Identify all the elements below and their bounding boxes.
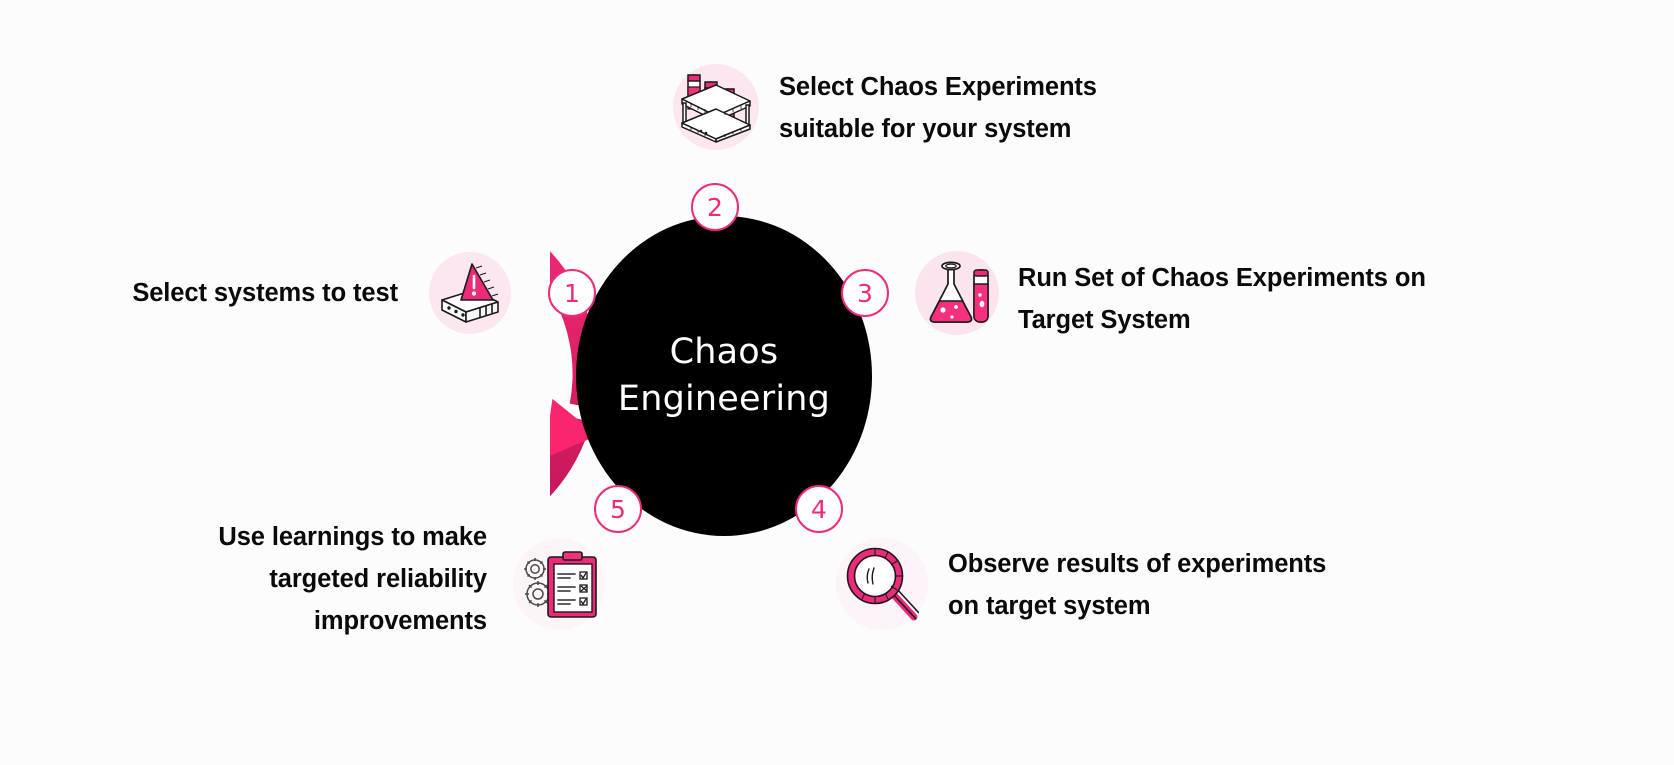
step-node-4[interactable]: 4 [795, 485, 843, 533]
test-tube-rack-icon [679, 71, 753, 143]
step-number-1: 1 [564, 279, 580, 308]
step-node-5[interactable]: 5 [594, 485, 642, 533]
clipboard-checklist-gears-icon [519, 549, 599, 619]
step-5-label-line2: targeted reliability [269, 565, 487, 593]
step-number-4: 4 [811, 495, 827, 524]
step-number-3: 3 [857, 279, 873, 308]
step-5-label-line3: improvements [314, 607, 487, 635]
center-title-line2: Engineering [618, 379, 830, 419]
step-4-label: Observe results of experiments on target… [948, 543, 1418, 627]
step-1-label: Select systems to test [40, 272, 398, 314]
step-number-5: 5 [610, 495, 626, 524]
server-rack-alert-icon [436, 262, 504, 324]
step-4-icon-bubble [836, 538, 928, 630]
step-5-icon-bubble [513, 538, 605, 630]
step-node-2[interactable]: 2 [691, 183, 739, 231]
step-4-label-line2: on target system [948, 592, 1150, 620]
step-2-label: Select Chaos Experiments suitable for yo… [779, 66, 1199, 150]
step-1-label-line1: Select systems to test [132, 279, 398, 307]
chaos-engineering-diagram: Chaos Engineering 1 2 3 4 5 [0, 0, 1674, 765]
step-3-label: Run Set of Chaos Experiments on Target S… [1018, 257, 1488, 341]
magnifying-glass-icon [845, 547, 919, 621]
step-2-icon-bubble [673, 64, 759, 150]
step-node-1[interactable]: 1 [548, 269, 596, 317]
step-5-label: Use learnings to make targeted reliabili… [130, 516, 487, 642]
step-3-label-line2: Target System [1018, 306, 1191, 334]
flask-and-test-tube-icon [922, 260, 992, 326]
center-title: Chaos Engineering [618, 329, 830, 423]
step-2-label-line1: Select Chaos Experiments [779, 73, 1097, 101]
step-number-2: 2 [707, 193, 723, 222]
step-5-label-line1: Use learnings to make [218, 523, 487, 551]
center-title-line1: Chaos [670, 332, 779, 372]
step-2-label-line2: suitable for your system [779, 115, 1071, 143]
step-node-3[interactable]: 3 [841, 269, 889, 317]
step-3-label-line1: Run Set of Chaos Experiments on [1018, 264, 1426, 292]
step-3-icon-bubble [915, 251, 999, 335]
step-4-label-line1: Observe results of experiments [948, 550, 1326, 578]
step-1-icon-bubble [429, 252, 511, 334]
flask-liquid [931, 301, 972, 322]
